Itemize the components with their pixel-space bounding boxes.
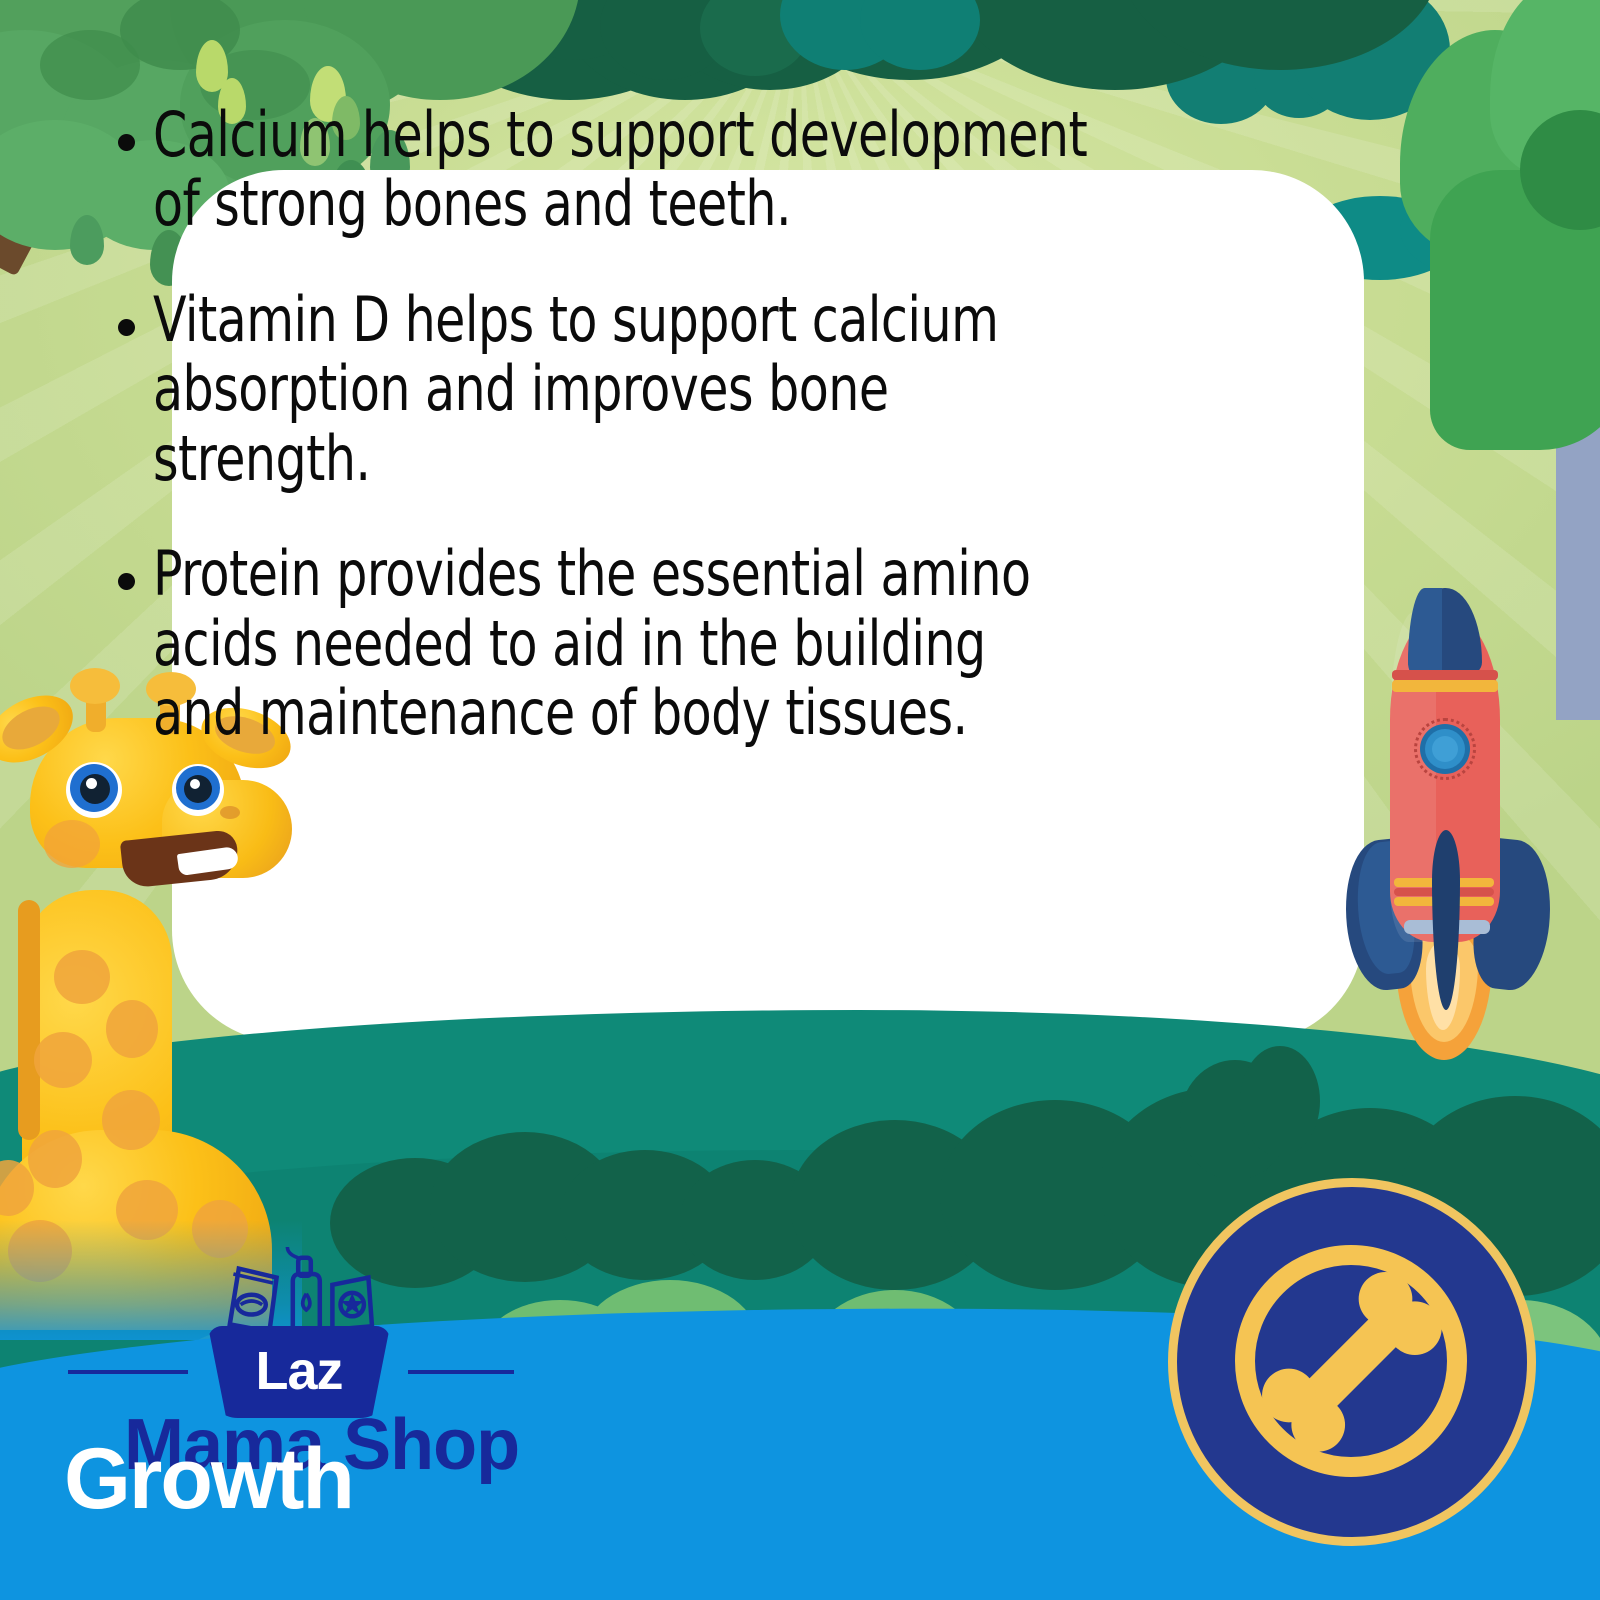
brand-logo[interactable]: Laz Mama Shop Growth: [60, 1232, 520, 1512]
bullet-dot: [118, 319, 135, 336]
list-item: Vitamin D helps to support calcium absor…: [118, 285, 1540, 493]
promo-graphic: Calcium helps to support development of …: [0, 0, 1600, 1600]
giraffe-character: [0, 660, 312, 1300]
bullet-dot: [118, 134, 135, 151]
list-item: Calcium helps to support development of …: [118, 100, 1540, 239]
list-item: Protein provides the essential amino aci…: [118, 539, 1540, 747]
bullet-text: Protein provides the essential amino aci…: [153, 539, 1030, 747]
bone-badge[interactable]: [1168, 1178, 1536, 1546]
bullet-text: Vitamin D helps to support calcium absor…: [153, 285, 998, 493]
growth-wordmark: Growth: [64, 1430, 353, 1529]
bone-icon: [1229, 1239, 1473, 1483]
logo-rule-left: [68, 1370, 188, 1374]
bullet-list: Calcium helps to support development of …: [118, 100, 1540, 748]
bullet-dot: [118, 573, 135, 590]
bullet-text: Calcium helps to support development of …: [153, 100, 1087, 239]
laz-wordmark: Laz: [255, 1344, 342, 1398]
logo-rule-right: [408, 1370, 514, 1374]
